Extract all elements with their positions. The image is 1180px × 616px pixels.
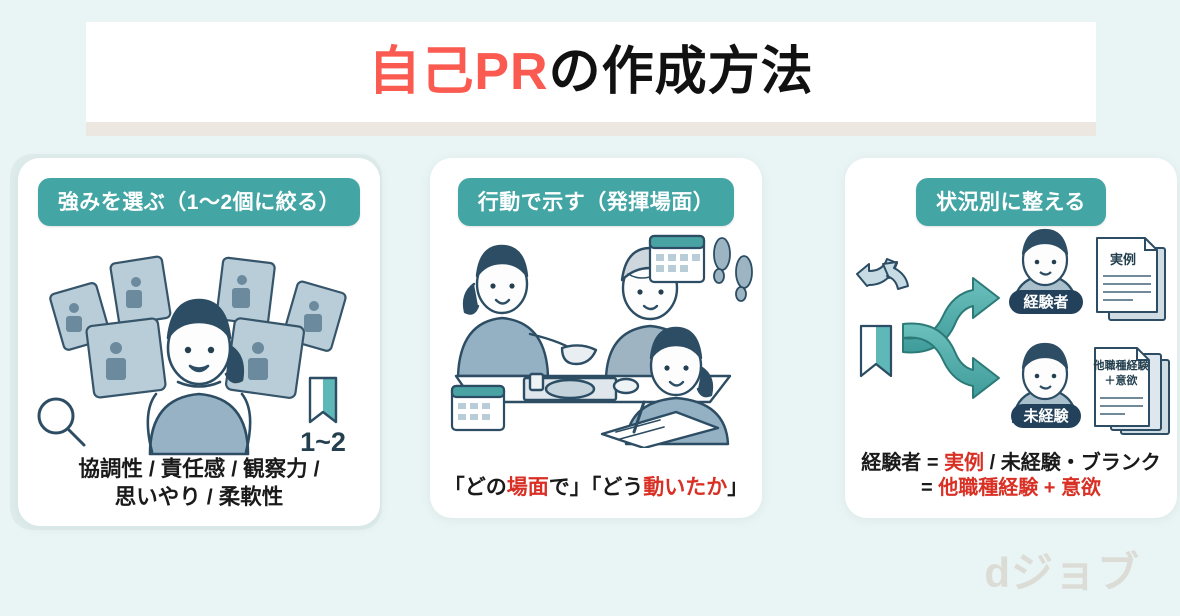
title-banner: 自己PRの作成方法 (86, 22, 1096, 122)
magnifier-icon (39, 399, 84, 445)
caregiving-scene-illustration (430, 226, 762, 448)
card-show-by-action[interactable]: 行動で示す（発揮場面） (430, 158, 762, 518)
card-3-caption-l1-seg-1: 実例 (944, 452, 984, 474)
card-3-caption-l2-seg-0: = (921, 477, 938, 499)
calendar-icon (452, 386, 504, 430)
page-title-accent: 自己PR (368, 43, 548, 101)
card-2-illustration (430, 226, 762, 475)
situation-branch-illustration: 経験者 未経験 実例 (845, 226, 1177, 442)
card-1-caption: 協調性 / 責任感 / 観察力 / 思いやり / 柔軟性 (18, 456, 380, 527)
strength-count-label: 1~2 (300, 427, 346, 456)
card-3-caption-line1: 経験者 = 実例 / 未経験・ブランク (857, 451, 1165, 477)
page-title-rest: の作成方法 (549, 43, 814, 101)
title-underbar (86, 122, 1096, 136)
page-title: 自己PRの作成方法 (368, 46, 813, 98)
card-3-caption: 経験者 = 実例 / 未経験・ブランク = 他職種経験 + 意欲 (845, 451, 1177, 518)
card-3-illustration: 経験者 未経験 実例 (845, 226, 1177, 451)
beginner-mark-icon (310, 378, 336, 422)
card-3-caption-l1-seg-0: 経験者 = (861, 452, 944, 474)
card-2-caption-seg-3: 動いたか (643, 476, 727, 499)
card-2-caption-seg-4: 」 (727, 476, 748, 499)
card-1-caption-line1: 協調性 / 責任感 / 観察力 / (30, 456, 368, 484)
card-3-header: 状況別に整える (916, 178, 1106, 226)
footprints-icon (714, 238, 752, 301)
card-1-header: 強みを選ぶ（1〜2個に絞る） (38, 178, 360, 226)
document-stack-inexperienced: 他職種経験 ＋意欲 (1093, 348, 1170, 434)
branch-arrows (903, 278, 999, 398)
doc-label-experienced: 実例 (1110, 252, 1136, 267)
card-2-caption: 「どの場面で」「どう動いたか」 (430, 475, 762, 518)
cards-row: 強みを選ぶ（1〜2個に絞る） (0, 152, 1180, 530)
card-2-caption-seg-1: 場面 (507, 476, 549, 499)
card-1-illustration: 1~2 (18, 226, 380, 456)
doc-label-inexperienced-2: ＋意欲 (1105, 373, 1138, 387)
calendar-icon (650, 236, 704, 282)
card-1-caption-line2: 思いやり / 柔軟性 (30, 484, 368, 512)
strength-selection-illustration: 1~2 (18, 226, 380, 456)
badge-inexperienced-label: 未経験 (1022, 407, 1069, 425)
card-2-caption-seg-0: 「どの (444, 476, 507, 499)
card-choose-strength[interactable]: 強みを選ぶ（1〜2個に絞る） (18, 158, 380, 526)
document-stack-experienced: 実例 (1097, 238, 1165, 320)
card-2-header: 行動で示す（発揮場面） (458, 178, 735, 226)
card-arrange-by-situation[interactable]: 状況別に整える (845, 158, 1177, 518)
card-3-caption-l1-seg-2: / 未経験・ブランク (984, 452, 1161, 474)
doc-label-inexperienced-1: 他職種経験 (1093, 358, 1150, 372)
beginner-mark-icon (861, 326, 891, 376)
badge-experienced-label: 経験者 (1023, 293, 1068, 311)
card-3-caption-l2-seg-1: 他職種経験 + 意欲 (938, 477, 1101, 499)
fork-arrow-icon (857, 259, 908, 289)
card-3-caption-line2: = 他職種経験 + 意欲 (857, 476, 1165, 502)
card-2-caption-seg-2: で」「どう (549, 476, 644, 499)
brand-watermark: dジョブ (984, 552, 1140, 594)
